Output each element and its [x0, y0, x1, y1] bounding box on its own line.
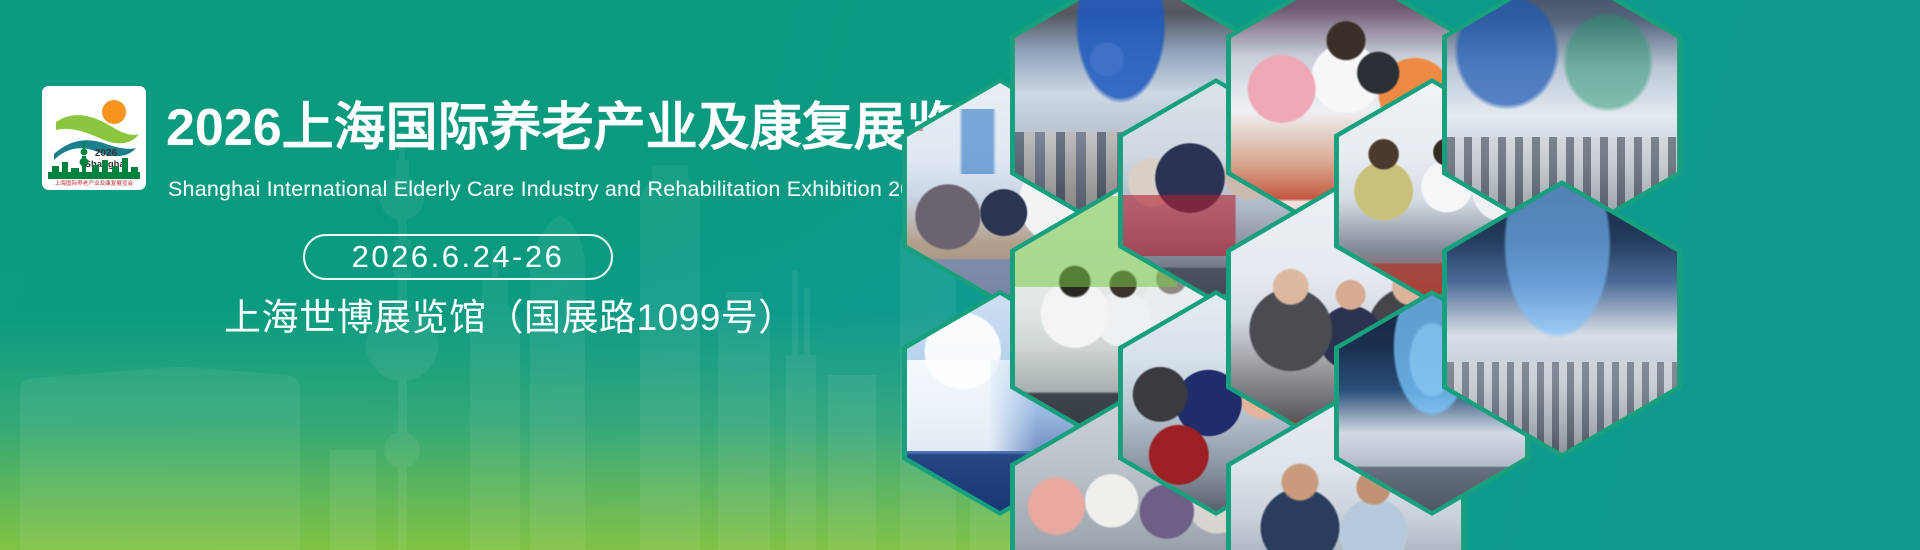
exhibition-photo-hexagon-collage [860, 0, 1920, 550]
page-subtitle: Shanghai International Elderly Care Indu… [168, 176, 937, 202]
date-badge-label: 2026.6.24-26 [352, 239, 565, 275]
sun-icon [102, 100, 126, 124]
date-badge: 2026.6.24-26 [303, 234, 613, 280]
logo-artwork: 2026 Shanghai 上海国际养老产业及康复展览会 [42, 86, 146, 190]
exhibition-logo: 2026 Shanghai 上海国际养老产业及康复展览会 [42, 86, 146, 190]
logo-caption: 上海国际养老产业及康复展览会 [55, 179, 134, 187]
exhibition-banner: 2026 Shanghai 上海国际养老产业及康复展览会 2026上海国际养老产… [0, 0, 1920, 550]
venue-text: 上海世博展览馆（国展路1099号） [224, 294, 796, 342]
logo-year: 2026 [95, 148, 118, 159]
